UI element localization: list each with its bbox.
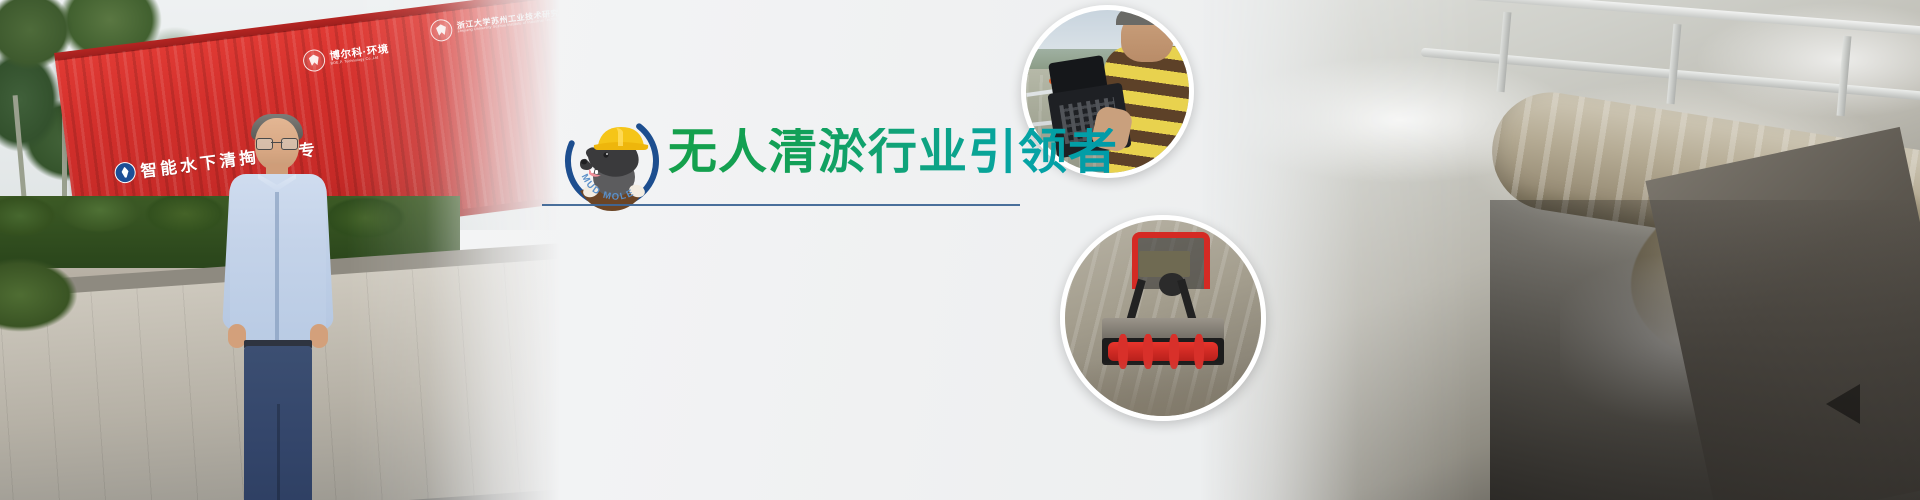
partner-seal-icon [429,18,454,43]
arrow-icon [1826,384,1860,424]
robot-scene [1065,220,1261,416]
mud-mole-logo: MUD MOLE [558,107,666,215]
shadow-overlay [1490,200,1920,500]
banner-center-content: MUD MOLE 无人清淤行业引领者 [540,0,1060,500]
grass-patch [0,255,100,375]
brand-text: 博尔科·环境 BOE.P. Technology Co.,Ltd [329,44,390,66]
headline-divider [542,204,1020,206]
robot-deck [1139,251,1190,276]
left-photo: 博尔科·环境 BOE.P. Technology Co.,Ltd 浙江大学苏州工… [0,0,560,500]
slogan-badge-icon [113,160,136,183]
right-photo [1200,0,1920,500]
person-figure [228,118,328,500]
hero-banner: 博尔科·环境 BOE.P. Technology Co.,Ltd 浙江大学苏州工… [0,0,1920,500]
trouser-seam [277,404,280,500]
shirt-placket [275,192,279,342]
eyeglasses-icon [256,138,298,148]
banner-headline: 无人清淤行业引领者 [668,128,1118,177]
operator-cap [1116,8,1175,24]
brand-seal-icon [302,48,327,73]
inset-photo-dredging-robot [1060,215,1266,421]
right-hand [310,324,328,348]
silt-deposit [1065,361,1261,416]
